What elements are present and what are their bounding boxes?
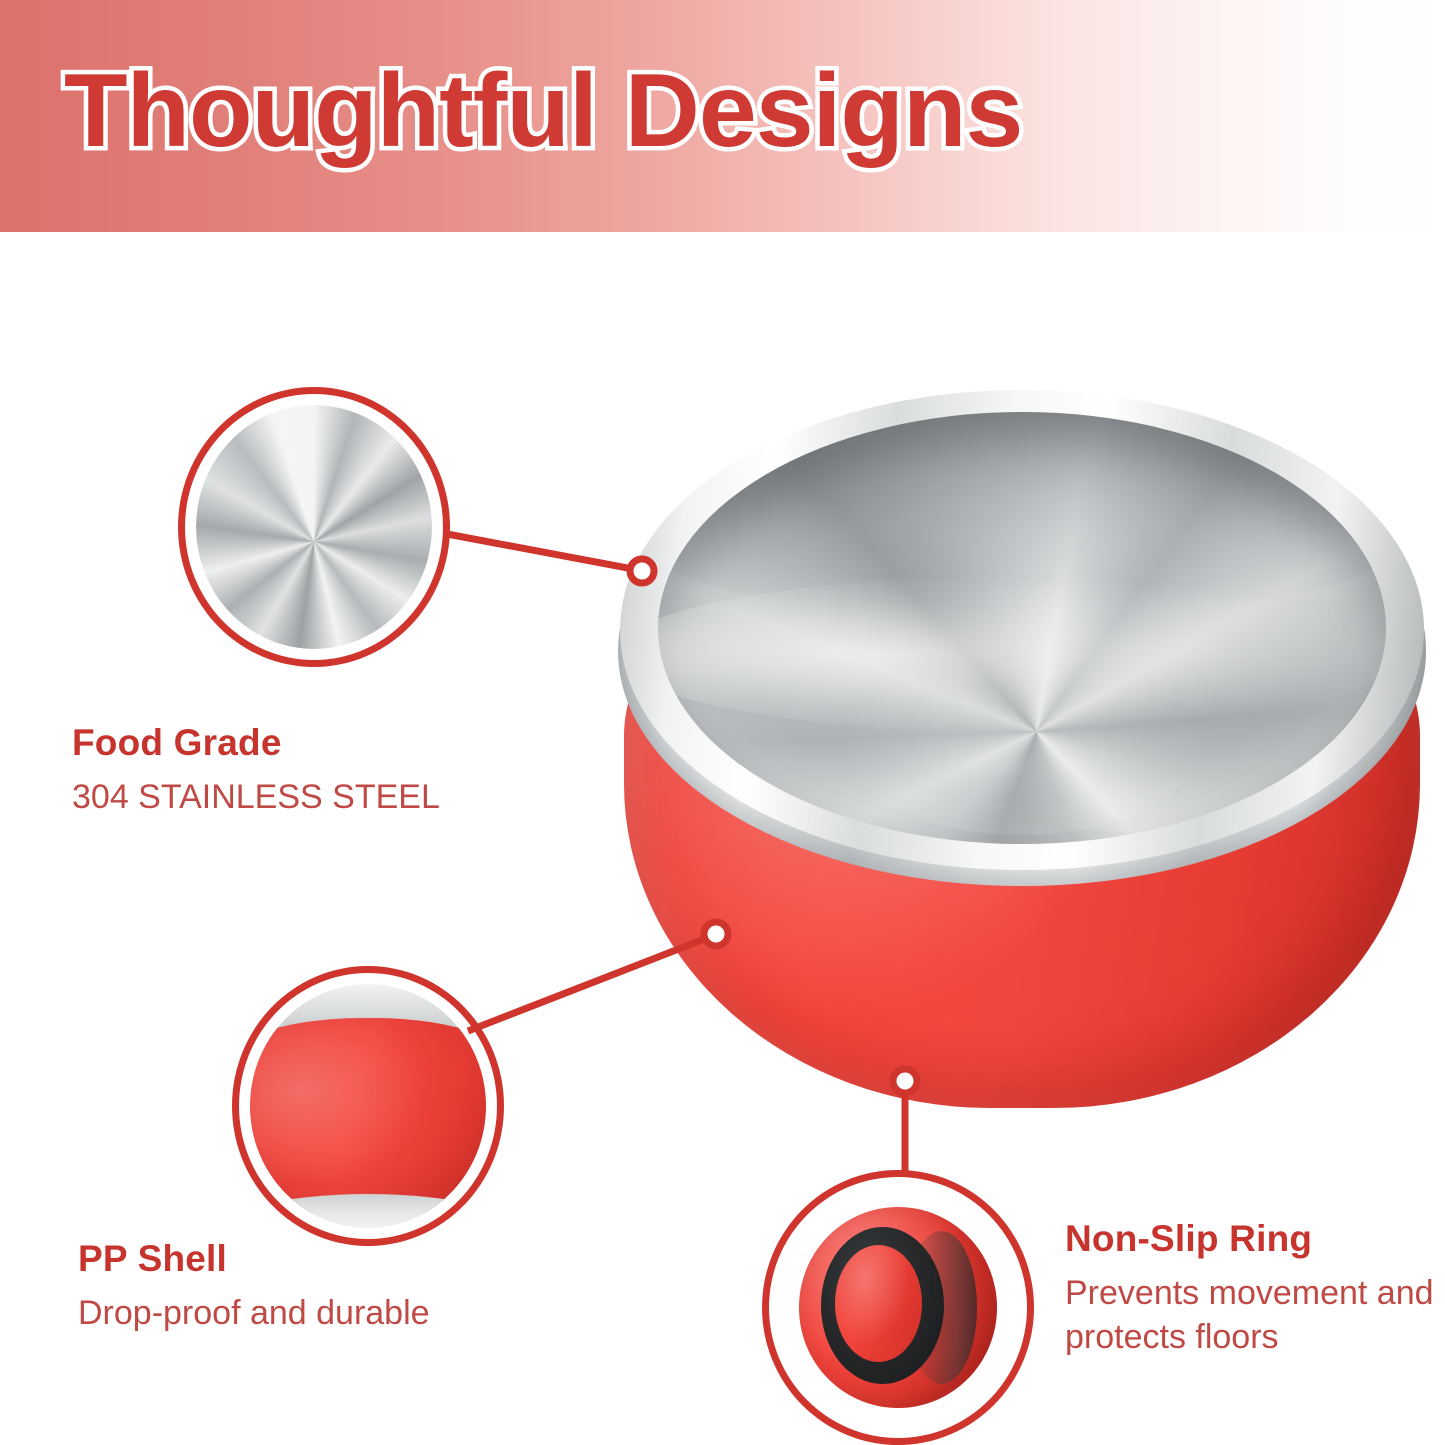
product-infographic: Thoughtful Designs [0, 0, 1445, 1445]
brushed-steel-disc-icon [196, 405, 432, 649]
feature-label-non-slip-ring: Non-Slip Ring Prevents movement and prot… [1065, 1218, 1435, 1359]
feature-description-non-slip-ring: Prevents movement and protects floors [1065, 1272, 1435, 1359]
feature-description-pp-shell: Drop-proof and durable [78, 1292, 430, 1336]
feature-description-food-grade: 304 STAINLESS STEEL [72, 776, 440, 820]
page-title: Thoughtful Designs [64, 52, 1022, 172]
ring-center-red [835, 1245, 922, 1361]
feature-title-non-slip-ring: Non-Slip Ring [1065, 1218, 1435, 1260]
callout-inner-non-slip-ring [780, 1188, 1016, 1427]
bowl-steel-basin [658, 412, 1386, 844]
connector-line-food-grade [447, 534, 638, 570]
header-banner: Thoughtful Designs [0, 0, 1445, 232]
callout-inner-pp-shell [250, 984, 486, 1228]
non-slip-ring-bottom-icon [799, 1207, 997, 1408]
feature-label-pp-shell: PP Shell Drop-proof and durable [78, 1238, 430, 1336]
product-bowl-image [612, 390, 1432, 1110]
callout-inner-food-grade [196, 405, 432, 649]
callout-circle-food-grade [178, 387, 450, 667]
feature-title-food-grade: Food Grade [72, 722, 440, 764]
pp-shell-closeup-icon [250, 1018, 486, 1218]
basin-bottom-glow [847, 663, 1196, 836]
callout-circle-pp-shell [232, 966, 504, 1246]
feature-label-food-grade: Food Grade 304 STAINLESS STEEL [72, 722, 440, 820]
callout-circle-non-slip-ring [762, 1170, 1034, 1445]
feature-title-pp-shell: PP Shell [78, 1238, 430, 1280]
